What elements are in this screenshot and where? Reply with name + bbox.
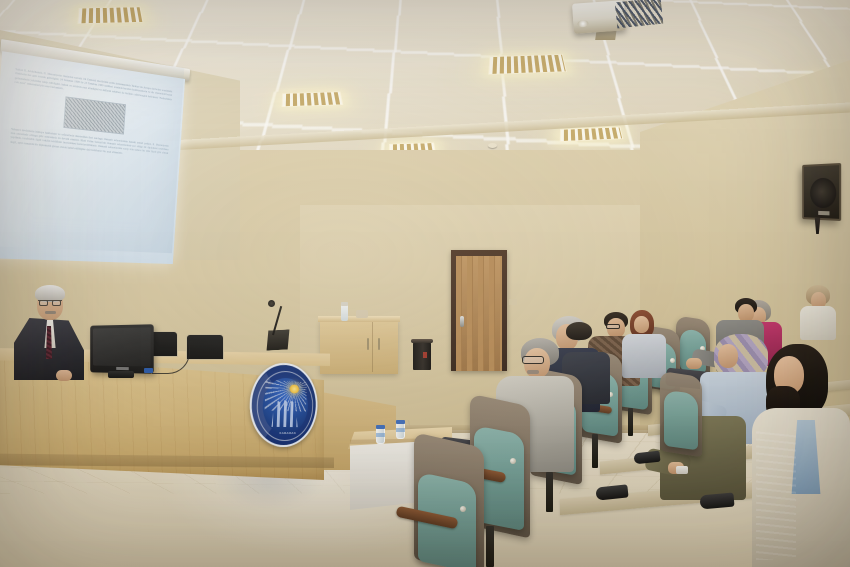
speaker-cone-icon [810,178,836,209]
presenter-glasses-right-lens [52,300,61,306]
waste-bin [413,342,431,370]
presenter-glasses-left-lens [39,300,48,306]
waste-bin-lid [411,339,433,343]
monitor-brand-logo [116,367,129,370]
waste-bin-label [423,352,427,358]
microphone-icon [268,300,275,307]
presenter-hand [56,370,72,381]
presenter-mustache [45,311,56,314]
seat-leg-r1-2 [546,472,553,512]
audience-hair-a3 [566,322,592,340]
seat-leg-r3-1 [628,408,633,436]
monitor-screen [93,327,151,366]
cabinet-bottle-cap [341,302,348,306]
water-bottle-2-label [396,428,405,432]
projection-screen: Sultan II. Abdulhamid, II. Mesrutiyetin … [0,39,190,291]
microphone-base [265,329,290,350]
wood-cabinet [320,320,398,374]
audience-shoe-3 [699,493,734,510]
desk-blue-object [144,368,153,373]
audience-head-a7 [718,344,738,368]
cabinet-water-bottle [341,305,348,321]
audience-head-a5 [634,316,649,333]
audience-phone-a9 [676,466,688,474]
monitor-stand [108,371,134,378]
water-bottle-1-cap [376,425,385,429]
cabinet-door-seam [372,322,373,372]
audience-body-a10 [800,306,836,340]
water-bottle-1-label [376,433,385,437]
wall-loudspeaker-icon [802,163,841,221]
computer-monitor [90,324,154,374]
seal-sun-icon [289,384,299,393]
door-handle-icon[interactable] [460,316,464,327]
audience-body-a5 [622,334,666,378]
wall-plate [509,299,517,305]
seat-right-block[interactable] [664,390,698,451]
projected-slide: Sultan II. Abdulhamid, II. Mesrutiyetin … [0,51,185,264]
slide-embedded-photo [63,96,126,134]
smoke-detector-icon [488,143,497,148]
projector-lens-icon [577,20,588,28]
audience-hand-a6 [686,358,702,369]
cabinet-top-object [356,310,368,318]
seat-stud [460,506,466,512]
seat-leg-r1-1 [486,526,494,567]
conference-hall-photograph: Sultan II. Abdulhamid, II. Mesrutiyetin … [0,0,850,567]
audience-cardigan-knit-a8 [756,430,796,560]
audience-mustache-a1 [527,370,539,374]
seal-bottom-text: KARAMAN [275,431,299,435]
ceiling-light-panel-2 [282,92,344,107]
cabinet-handle-right[interactable] [378,338,380,350]
seat-stud [670,358,675,363]
wooden-door[interactable] [456,256,502,371]
audience-glasses-a4 [606,324,620,329]
seat-leg-r2-1 [592,434,598,468]
ceiling-light-panel-1 [77,7,143,24]
speaker-badge [818,211,829,215]
cabinet-handle-left[interactable] [367,338,369,350]
audience-glasses-a1 [522,356,544,364]
ceiling-light-panel-3 [488,54,567,75]
seat-stud [510,458,516,464]
slide-paragraph-2: Yabanci devletlerin himaye haklarinin ve… [10,127,169,160]
projector-cables [615,0,663,28]
water-bottle-2-cap [396,420,405,424]
stage-chair-2 [186,334,224,360]
